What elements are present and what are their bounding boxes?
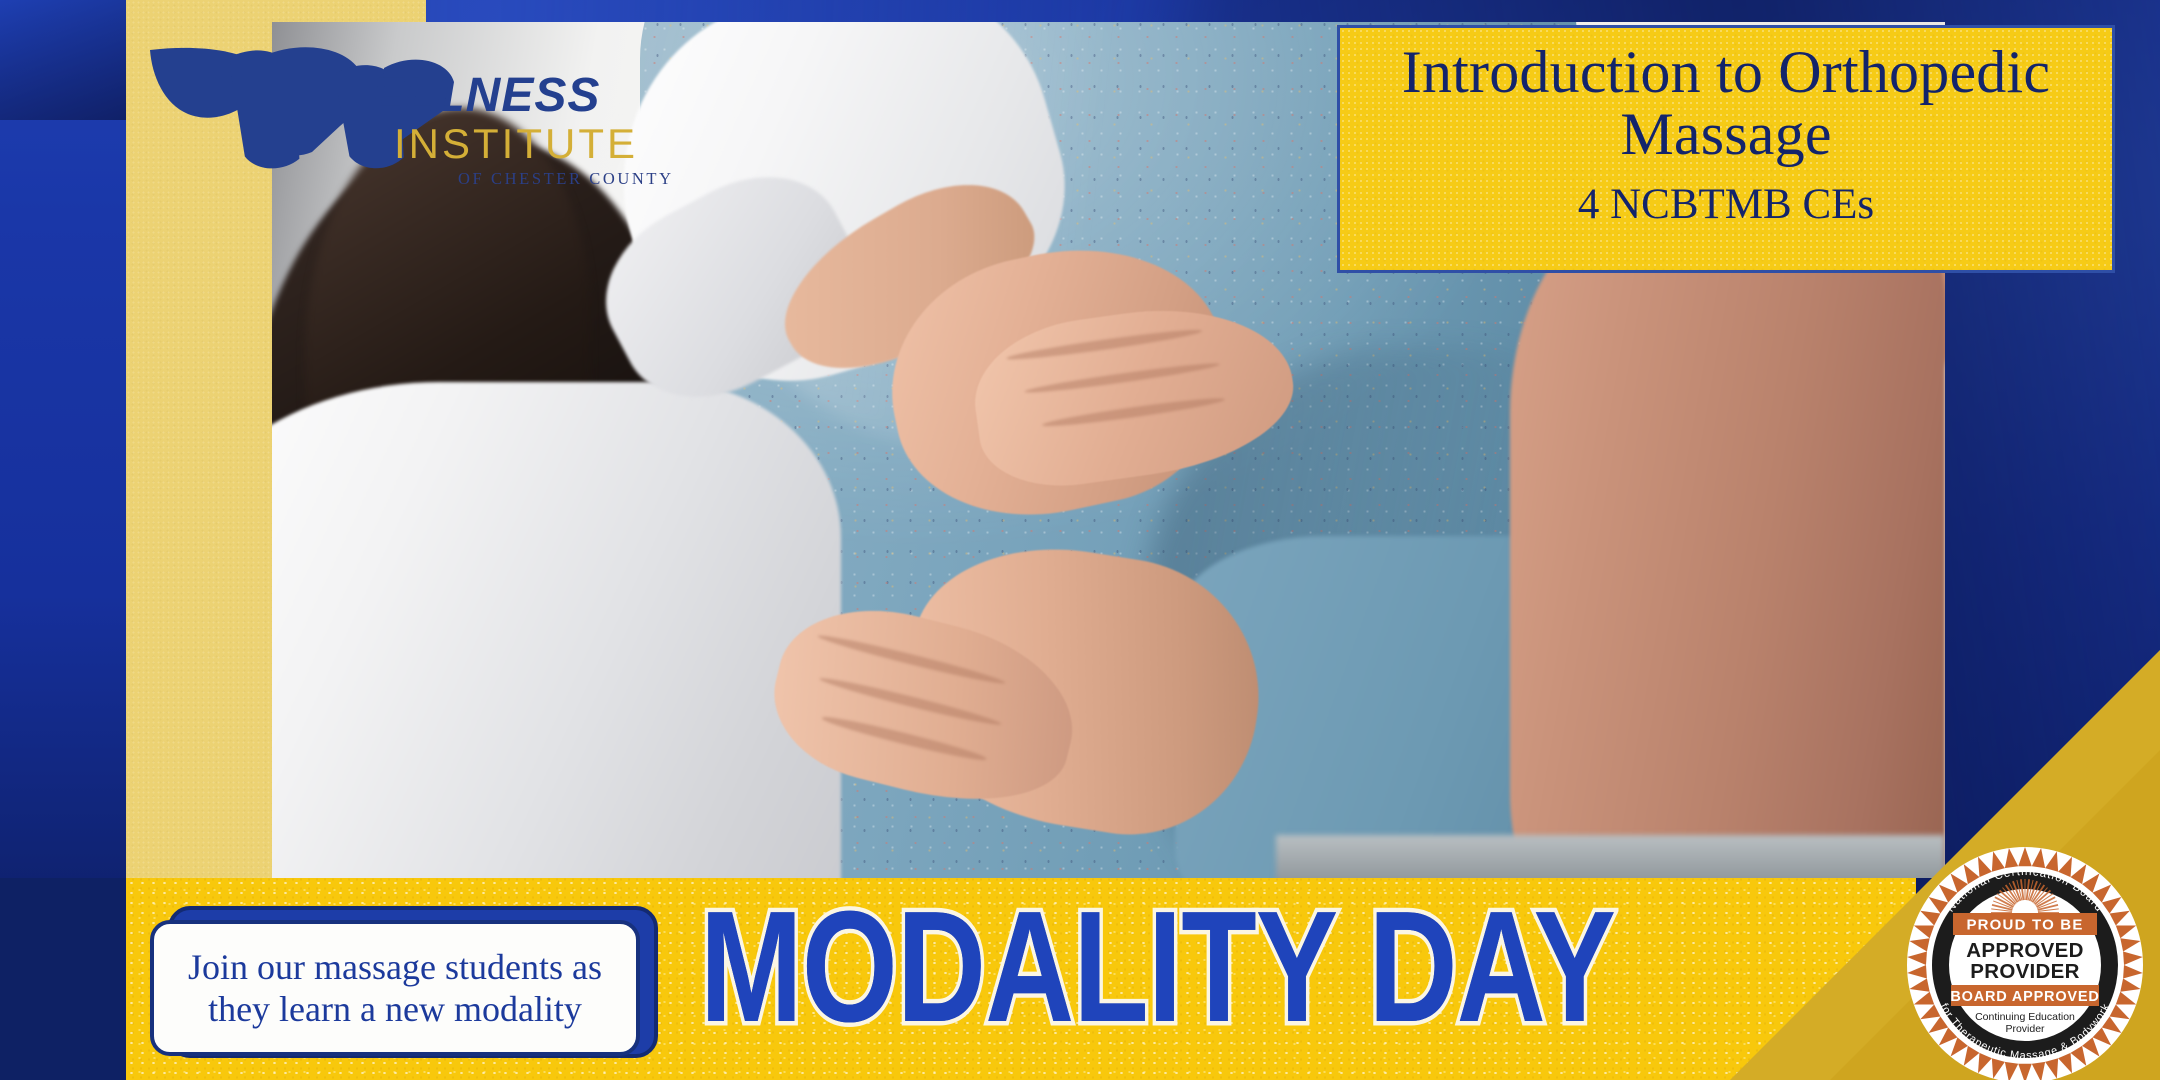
bottom-left-navy-block xyxy=(0,878,126,1080)
course-ce-credits: 4 NCBTMB CEs xyxy=(1578,180,1874,229)
photo-therapist-coat xyxy=(272,382,841,878)
logo-chester-county-text: OF CHESTER COUNTY xyxy=(458,169,672,189)
seal-footnote-line2: Provider xyxy=(2005,1023,2045,1035)
seal-main-line2: PROVIDER xyxy=(1970,960,2079,983)
seal-band-bottom-text: BOARD APPROVED xyxy=(1950,989,2099,1005)
callout-box: Join our massage students as they learn … xyxy=(150,898,670,1068)
photo-massage-table-edge xyxy=(1276,835,1945,878)
seal-footnote-line1: Continuing Education xyxy=(1975,1011,2075,1023)
ncbtmb-approved-provider-seal: National Certification Board for Therape… xyxy=(1905,845,2145,1080)
seal-main-line1: APPROVED xyxy=(1966,939,2083,962)
logo-institute-text: INSTITUTE xyxy=(394,122,672,166)
brand-logo[interactable]: ELLNESS INSTITUTE OF CHESTER COUNTY xyxy=(144,30,604,200)
logo-wordmark: ELLNESS INSTITUTE OF CHESTER COUNTY xyxy=(372,72,672,189)
photo-client-arm xyxy=(1510,193,1945,878)
left-strip-shading xyxy=(0,0,126,120)
course-title: Introduction to Orthopedic Massage xyxy=(1366,42,2086,166)
flyer-canvas: massage therapist applying orthopedic te… xyxy=(0,0,2160,1080)
callout-box-front: Join our massage students as they learn … xyxy=(150,920,640,1056)
seal-band-top-text: PROUD TO BE xyxy=(1966,917,2083,934)
title-banner: Introduction to Orthopedic Massage 4 NCB… xyxy=(1337,25,2115,273)
modality-day-headline: MODALITY DAY xyxy=(700,888,1615,1046)
callout-text: Join our massage students as they learn … xyxy=(170,946,620,1031)
logo-wellness-text: ELLNESS xyxy=(372,72,672,120)
